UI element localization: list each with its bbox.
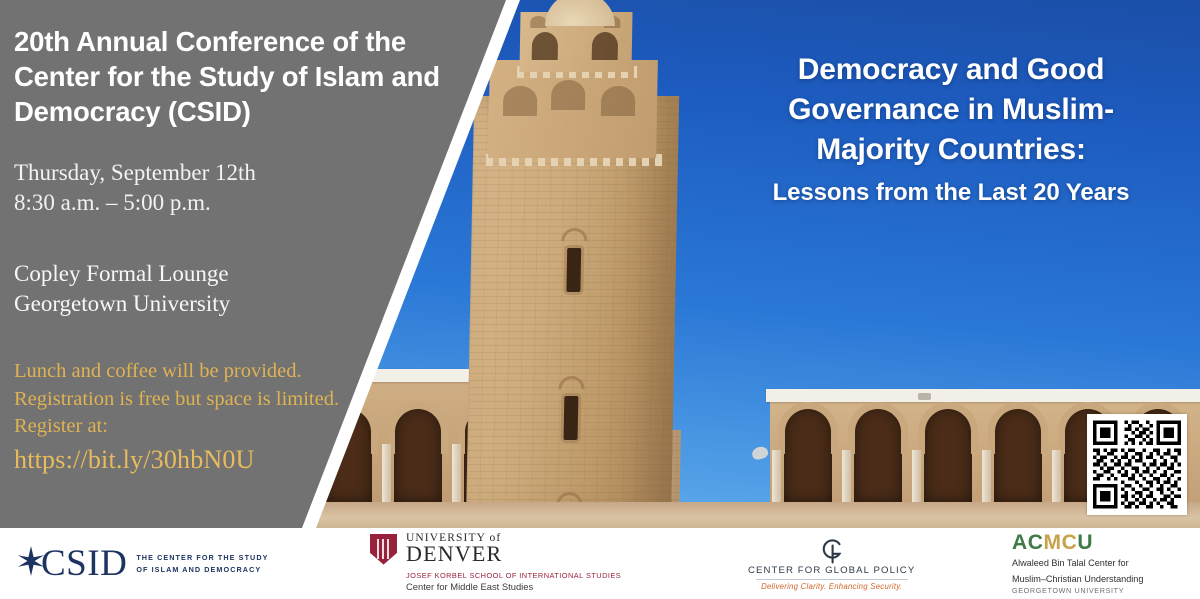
event-time: 8:30 a.m. – 5:00 p.m. xyxy=(14,188,470,219)
divider xyxy=(756,579,908,580)
tower-window-slit xyxy=(564,396,579,440)
column xyxy=(1052,450,1061,502)
arched-opening xyxy=(592,32,618,60)
denver-wordmark: UNIVERSITY of DENVER xyxy=(406,533,502,565)
denver-center-name: Center for Middle East Studies xyxy=(406,581,533,594)
tower-window-slit xyxy=(566,248,581,292)
theme-subtitle: Lessons from the Last 20 Years xyxy=(706,177,1196,208)
logo-csid[interactable]: CSID THE CENTER FOR THE STUDY OF ISLAM A… xyxy=(18,528,269,599)
page-title: 20th Annual Conference of the Center for… xyxy=(14,24,444,130)
event-venue: Copley Formal Lounge Georgetown Universi… xyxy=(14,259,470,320)
minaret-dome xyxy=(545,0,615,26)
acmcu-university: GEORGETOWN UNIVERSITY xyxy=(1012,586,1124,595)
niche xyxy=(601,86,636,116)
registration-link[interactable]: https://bit.ly/30hbN0U xyxy=(14,445,470,475)
arch xyxy=(848,406,908,502)
theme-line-2: Governance in Muslim- xyxy=(706,90,1196,130)
niche xyxy=(551,80,586,110)
shield-icon xyxy=(370,534,397,565)
denver-school-name: JOSEF KORBEL SCHOOL OF INTERNATIONAL STU… xyxy=(406,570,621,581)
arch xyxy=(918,406,978,502)
globe-g-icon xyxy=(819,537,845,564)
theme-line-1: Democracy and Good xyxy=(706,50,1196,90)
venue-line-1: Copley Formal Lounge xyxy=(14,259,470,290)
theme-line-3: Majority Countries: xyxy=(706,130,1196,170)
csid-tagline-line-2: OF ISLAM AND DEMOCRACY xyxy=(136,564,268,575)
arch xyxy=(778,406,838,502)
acmcu-wordmark-part-3: U xyxy=(1077,531,1093,554)
cgp-name: CENTER FOR GLOBAL POLICY xyxy=(748,565,915,576)
logo-center-for-global-policy[interactable]: CENTER FOR GLOBAL POLICY Delivering Clar… xyxy=(748,528,915,599)
acmcu-name-line-2: Muslim–Christian Understanding xyxy=(1012,573,1143,585)
event-datetime: Thursday, September 12th 8:30 a.m. – 5:0… xyxy=(14,158,470,219)
acmcu-wordmark-part-2: MC xyxy=(1044,531,1078,554)
sponsor-logo-bar: CSID THE CENTER FOR THE STUDY OF ISLAM A… xyxy=(0,528,1200,599)
arched-opening xyxy=(532,32,558,60)
arch xyxy=(988,406,1048,502)
info-panel-content: 20th Annual Conference of the Center for… xyxy=(0,0,470,528)
logo-acmcu[interactable]: ACMCU Alwaleed Bin Talal Center for Musl… xyxy=(1012,528,1143,599)
denver-wordmark-row: UNIVERSITY of DENVER xyxy=(370,533,502,565)
roofline-right xyxy=(766,389,1200,402)
venue-line-2: Georgetown University xyxy=(14,289,470,320)
column xyxy=(842,450,851,502)
csid-wordmark: CSID xyxy=(41,545,127,582)
acmcu-name-line-1: Alwaleed Bin Talal Center for xyxy=(1012,557,1129,569)
niche xyxy=(503,86,538,116)
acmcu-wordmark: ACMCU xyxy=(1012,532,1093,553)
column xyxy=(912,450,921,502)
niche xyxy=(530,16,546,28)
qr-code[interactable] xyxy=(1087,414,1187,515)
column xyxy=(772,450,781,502)
column xyxy=(982,450,991,502)
registration-note: Lunch and coffee will be provided. Regis… xyxy=(14,358,359,441)
csid-tagline-line-1: THE CENTER FOR THE STUDY xyxy=(136,552,268,563)
denver-line-2: DENVER xyxy=(406,544,502,565)
event-date: Thursday, September 12th xyxy=(14,158,470,189)
wall-lamp xyxy=(918,393,931,400)
conference-poster: 20th Annual Conference of the Center for… xyxy=(0,0,1200,599)
conference-theme-title: Democracy and Good Governance in Muslim-… xyxy=(706,50,1196,208)
cgp-tagline: Delivering Clarity. Enhancing Security. xyxy=(761,582,902,591)
csid-tagline: THE CENTER FOR THE STUDY OF ISLAM AND DE… xyxy=(136,552,268,574)
acmcu-wordmark-part-1: AC xyxy=(1012,531,1044,554)
logo-university-of-denver[interactable]: UNIVERSITY of DENVER JOSEF KORBEL SCHOOL… xyxy=(370,528,621,599)
